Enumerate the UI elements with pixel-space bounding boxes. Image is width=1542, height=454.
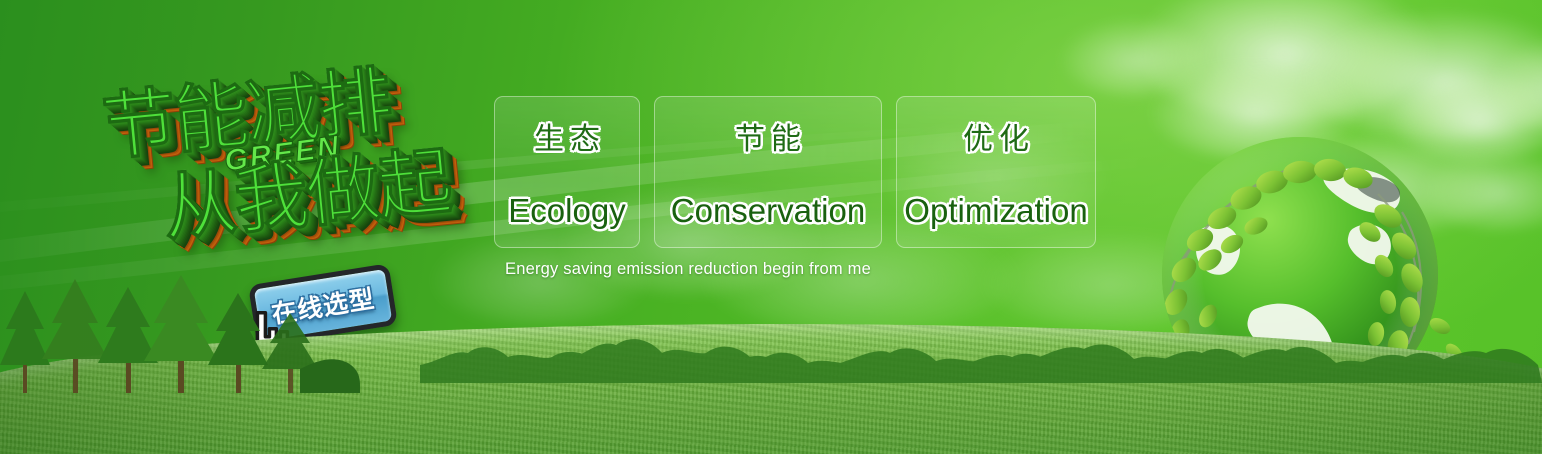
cloud-icon	[1060, 18, 1210, 96]
feature-card-conservation[interactable]: 节能 Conservation	[654, 96, 882, 248]
tagline: Energy saving emission reduction begin f…	[505, 260, 871, 279]
grass-field-shading	[0, 324, 1542, 454]
feature-cards: 生态 Ecology 节能 Conservation 优化 Optimizati…	[494, 96, 1096, 248]
feature-card-optimization[interactable]: 优化 Optimization	[896, 96, 1096, 248]
headline-3d: 节能减排 GREEN 从我做起	[86, 17, 506, 284]
feature-card-en-label: Optimization	[904, 192, 1087, 230]
cloud-icon	[1490, 40, 1542, 130]
cloud-icon	[1390, 72, 1542, 162]
cloud-icon	[1150, 60, 1360, 160]
cloud-icon	[1420, 150, 1542, 230]
cloud-icon	[1300, 10, 1542, 140]
headline-line-2: 从我做起	[157, 122, 454, 256]
cloud-icon	[1135, 0, 1435, 122]
feature-card-ecology[interactable]: 生态 Ecology	[494, 96, 640, 248]
feature-card-cn-label: 生态	[528, 114, 606, 158]
headline-accent-word: GREEN	[223, 130, 343, 179]
cloud-icon	[1250, 130, 1510, 235]
headline-line-1: 节能减排	[97, 41, 394, 175]
feature-card-cn-label: 节能	[729, 114, 807, 158]
feature-card-en-label: Ecology	[508, 192, 625, 230]
feature-card-en-label: Conservation	[671, 192, 865, 230]
eco-promo-banner: 节能减排 GREEN 从我做起 在线选型 生态 Ecology 节能 Conse…	[0, 0, 1542, 454]
online-selection-button-label: 在线选型	[269, 279, 377, 331]
feature-card-cn-label: 优化	[957, 114, 1035, 158]
